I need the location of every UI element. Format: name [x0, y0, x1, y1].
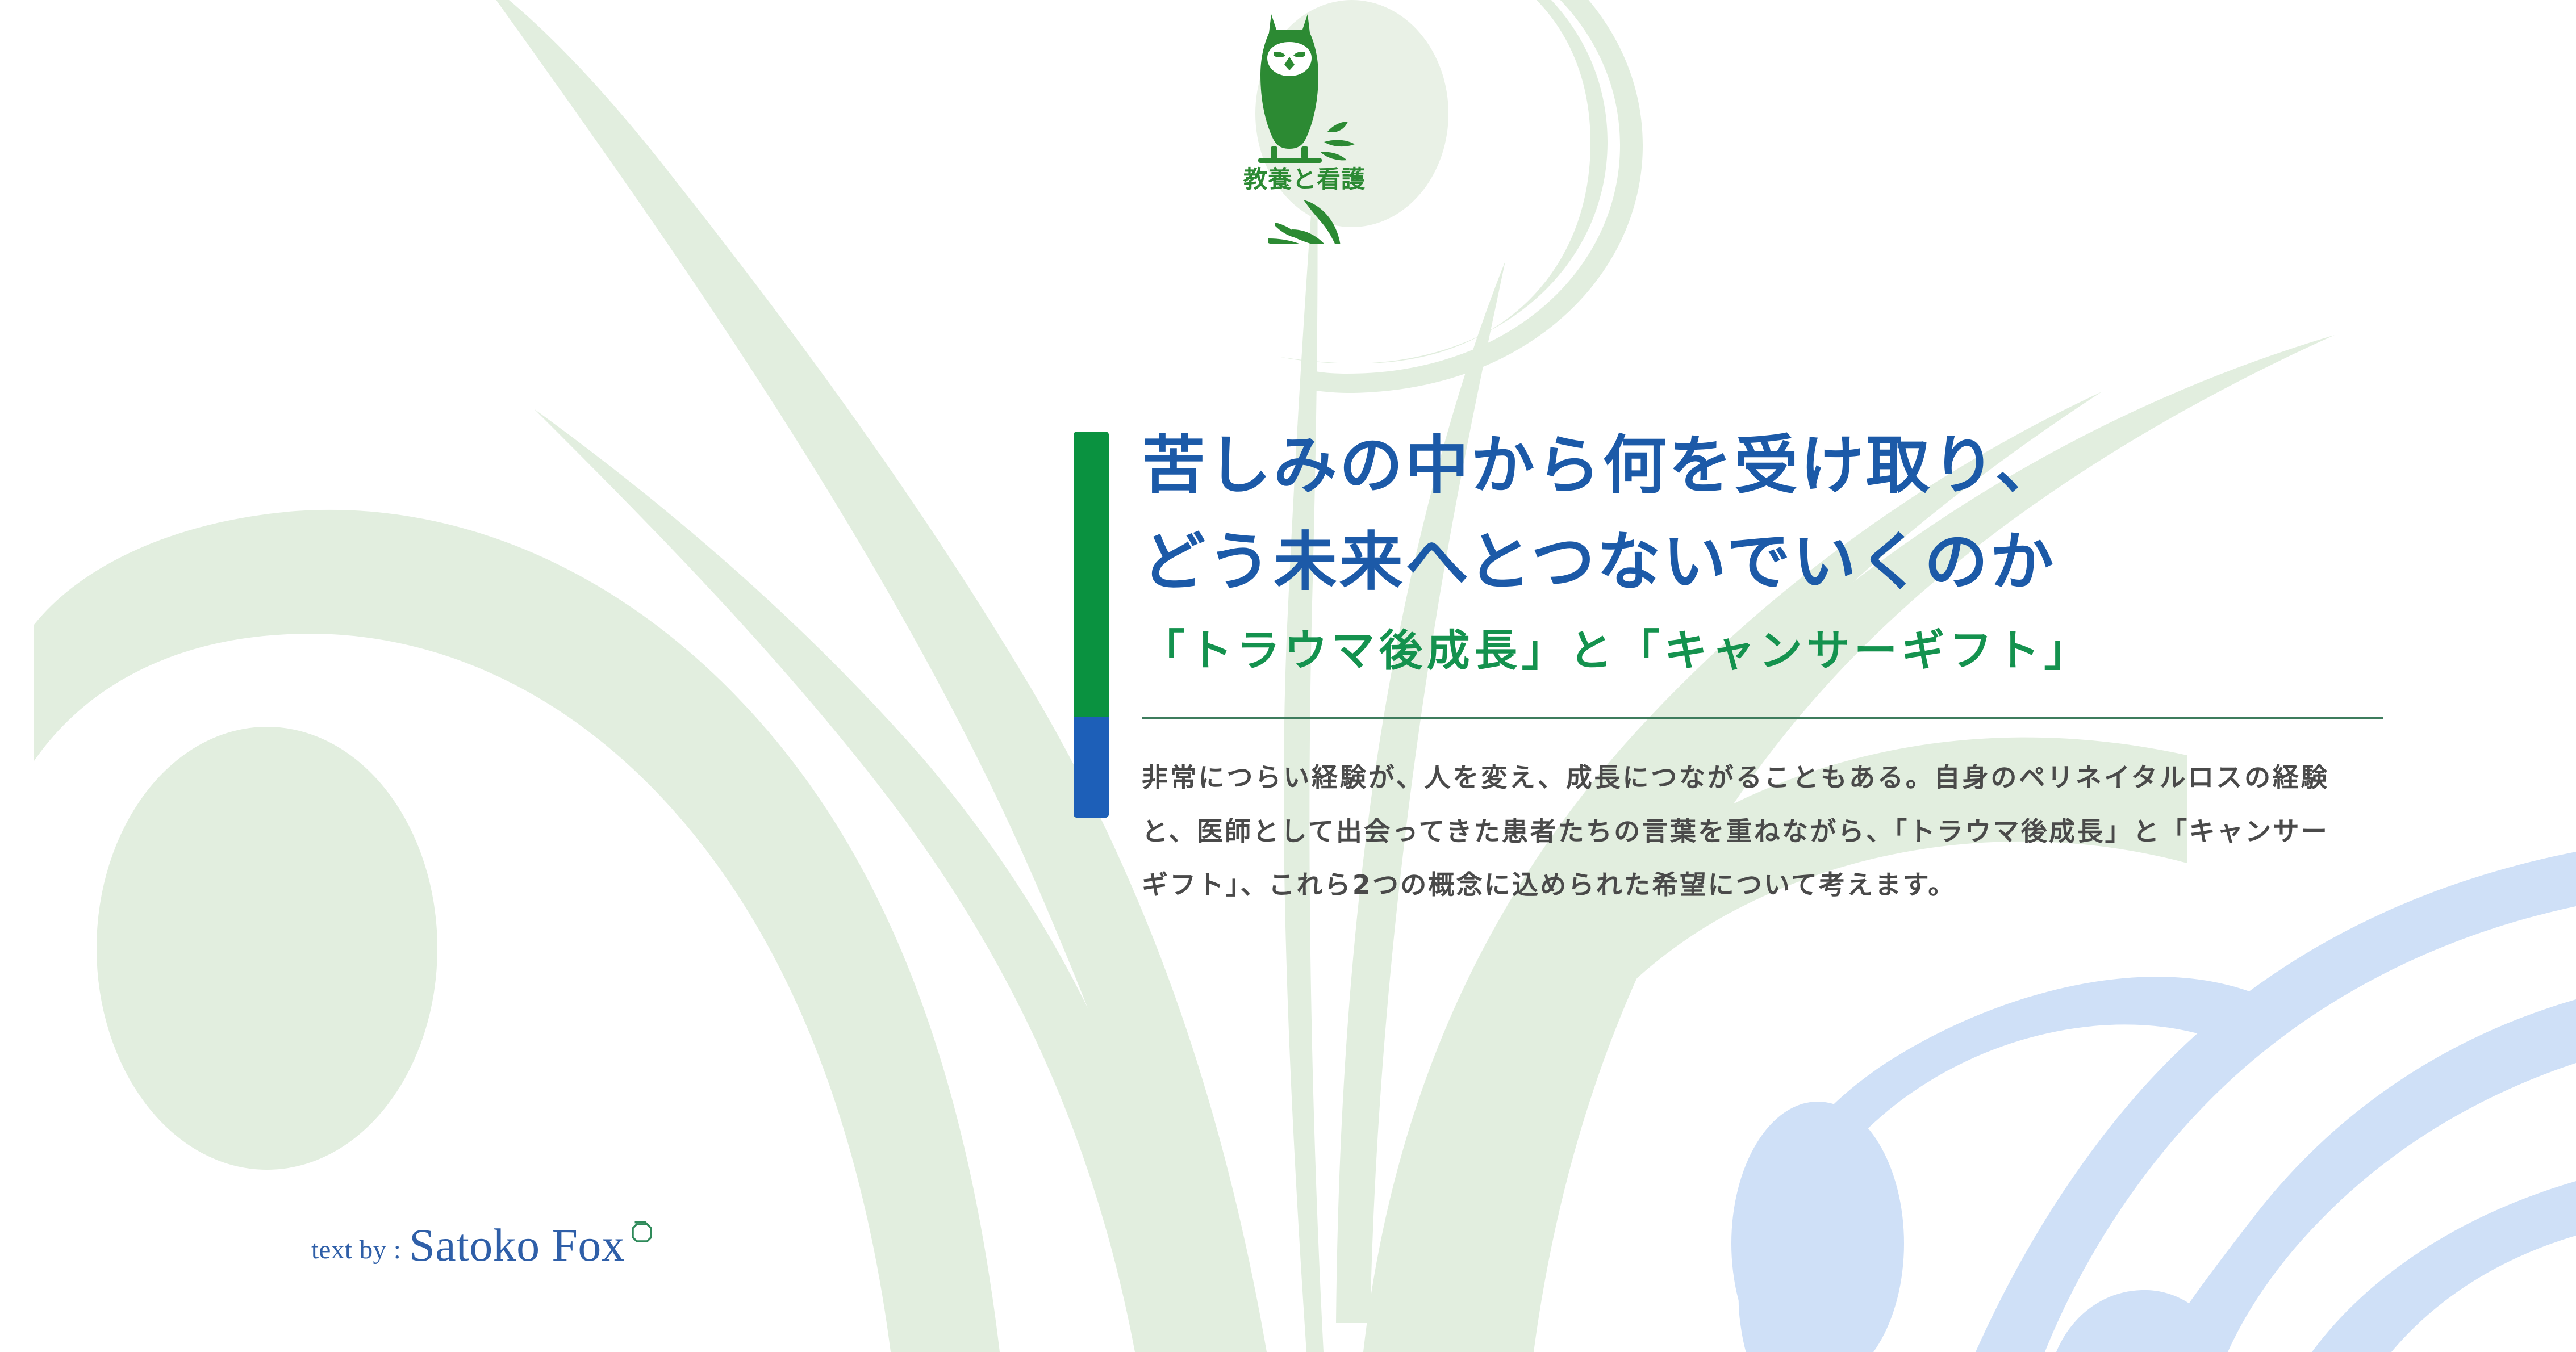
title-block: 苦しみの中から何を受け取り、 どう未来へとつないでいくのか 「トラウマ後成長」と…	[1074, 417, 2323, 683]
article-headline: 苦しみの中から何を受け取り、 どう未来へとつないでいくのか	[1142, 417, 2323, 610]
publication-masthead: 教養と看護	[1235, 0, 1417, 244]
byline-prefix: text by :	[311, 1237, 401, 1269]
article-content: 苦しみの中から何を受け取り、 どう未来へとつないでいくのか 「トラウマ後成長」と…	[1074, 417, 2323, 911]
byline: text by : Satoko Fox	[311, 1222, 654, 1269]
byline-author-name: Satoko Fox	[409, 1222, 625, 1269]
lede-paragraph: 非常につらい経験が、人を変え、成長につながることもある。自身のペリネイタルロスの…	[1142, 751, 2329, 911]
content-divider	[1142, 717, 2383, 719]
accent-bar-blue-segment	[1074, 717, 1109, 818]
accent-bar-green-segment	[1074, 432, 1109, 717]
accent-bar	[1074, 432, 1109, 818]
article-cover-page: 教養と看護 苦しみの中から何を受け取り、 どう未来へとつないでいくのか 「トラウ…	[0, 0, 2576, 1352]
owl-icon	[1260, 14, 1318, 149]
headline-line-2: どう未来へとつないでいくのか	[1142, 525, 2056, 599]
article-lede: 非常につらい経験が、人を変え、成長につながることもある。自身のペリネイタルロスの…	[1142, 751, 2329, 911]
masthead-title: 教養と看護	[1243, 165, 1366, 193]
article-subheadline: 「トラウマ後成長」と「キャンサーギフト」	[1142, 618, 2323, 683]
hexagon-outline-icon	[628, 1220, 654, 1246]
headline-line-1: 苦しみの中から何を受け取り、	[1142, 429, 2061, 503]
